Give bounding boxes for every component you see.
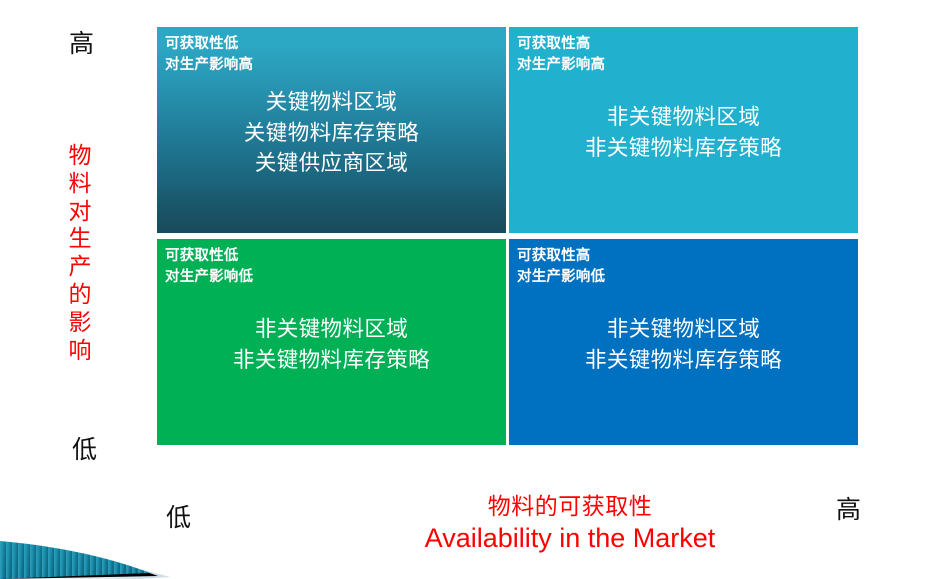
y-axis-title: 物 料 对 生 产 的 影 响 [60, 142, 100, 365]
y-axis-title-char: 对 [60, 198, 100, 226]
quadrant-corner-label: 可获取性高 对生产影响高 [517, 34, 605, 76]
quadrant-low-impact-low-availability[interactable]: 可获取性低 对生产影响低 非关键物料区域 非关键物料库存策略 [157, 239, 506, 445]
decorative-swoosh-graphic [0, 529, 250, 579]
x-axis-title: 物料的可获取性 Availability in the Market [300, 492, 840, 556]
x-axis-high-label: 高 [836, 490, 861, 526]
y-axis-title-char: 的 [60, 281, 100, 309]
x-axis-title-cn: 物料的可获取性 [300, 492, 840, 521]
y-axis-title-char: 影 [60, 309, 100, 337]
quadrant-center-text: 关键物料区域 关键物料库存策略 关键供应商区域 [157, 87, 506, 179]
y-axis-low-label: 低 [72, 430, 97, 466]
x-axis-title-en: Availability in the Market [300, 521, 840, 556]
y-axis-title-char: 物 [60, 142, 100, 170]
x-axis-low-label: 低 [166, 498, 191, 534]
y-axis-title-char: 产 [60, 253, 100, 281]
quadrant-high-impact-low-availability[interactable]: 可获取性低 对生产影响高 关键物料区域 关键物料库存策略 关键供应商区域 [157, 27, 506, 233]
quadrant-corner-label: 可获取性高 对生产影响低 [517, 246, 605, 288]
y-axis-title-char: 料 [60, 170, 100, 198]
slide-canvas: 高 物 料 对 生 产 的 影 响 低 可获取性低 对生产影响高 关键物料区域 … [0, 0, 951, 579]
quadrant-center-text: 非关键物料区域 非关键物料库存策略 [157, 314, 506, 375]
quadrant-center-text: 非关键物料区域 非关键物料库存策略 [509, 314, 858, 375]
y-axis-title-char: 响 [60, 337, 100, 365]
quadrant-center-text: 非关键物料区域 非关键物料库存策略 [509, 102, 858, 163]
y-axis-title-char: 生 [60, 225, 100, 253]
y-axis-high-label: 高 [69, 24, 94, 60]
quadrant-corner-label: 可获取性低 对生产影响低 [165, 246, 253, 288]
quadrant-low-impact-high-availability[interactable]: 可获取性高 对生产影响低 非关键物料区域 非关键物料库存策略 [509, 239, 858, 445]
quadrant-high-impact-high-availability[interactable]: 可获取性高 对生产影响高 非关键物料区域 非关键物料库存策略 [509, 27, 858, 233]
two-by-two-matrix: 可获取性低 对生产影响高 关键物料区域 关键物料库存策略 关键供应商区域 可获取… [157, 27, 858, 445]
quadrant-corner-label: 可获取性低 对生产影响高 [165, 34, 253, 76]
